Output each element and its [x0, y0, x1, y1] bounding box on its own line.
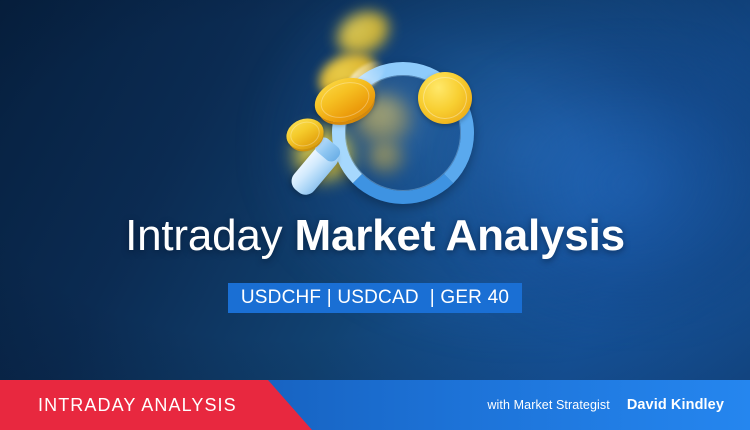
page-title-light: Intraday — [125, 211, 294, 260]
magnifier-coins-illustration — [258, 0, 508, 210]
footer-with-label: with Market Strategist — [487, 398, 609, 412]
instrument-pairs-badge: USDCHF | USDCAD | GER 40 — [228, 283, 522, 313]
footer-category-label: INTRADAY ANALYSIS — [38, 395, 237, 416]
page-title: Intraday Market Analysis — [0, 214, 750, 258]
footer-byline: with Market Strategist David Kindley — [487, 397, 724, 413]
instrument-pairs-label: USDCHF | USDCAD | GER 40 — [241, 287, 509, 309]
footer-strategist-name: David Kindley — [627, 397, 724, 413]
coin-icon-right — [418, 72, 472, 124]
marketing-banner: Intraday Market Analysis USDCHF | USDCAD… — [0, 0, 750, 430]
page-title-bold: Market Analysis — [295, 211, 625, 260]
footer-bar: INTRADAY ANALYSIS with Market Strategist… — [0, 380, 750, 430]
